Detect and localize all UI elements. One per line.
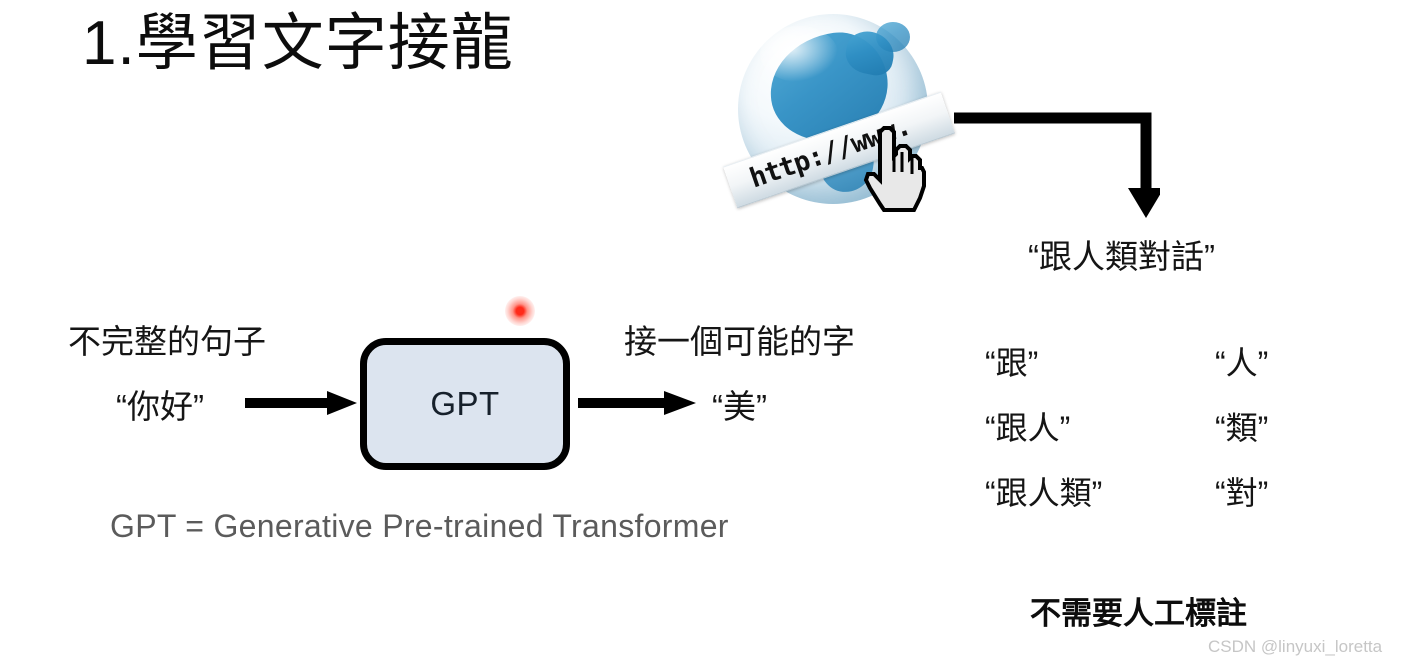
pair-prompt: “跟” — [985, 338, 1215, 384]
pair-prompt: “跟人類” — [985, 468, 1215, 514]
pair-answer: “人” — [1215, 338, 1268, 384]
input-token: “你好” — [116, 380, 204, 428]
laser-pointer-dot — [505, 296, 535, 326]
list-item: “跟人” “類” — [985, 403, 1355, 468]
pair-prompt: “跟人” — [985, 403, 1215, 449]
output-label: 接一個可能的字 — [624, 315, 855, 363]
dialogue-heading: “跟人類對話” — [1028, 230, 1215, 278]
globe-illustration: http://www. — [726, 8, 942, 218]
csdn-watermark: CSDN @linyuxi_loretta — [1208, 637, 1382, 657]
pair-answer: “對” — [1215, 468, 1268, 514]
elbow-arrow-down — [950, 106, 1160, 224]
no-human-annotation-note: 不需要人工標註 — [1030, 588, 1247, 633]
arrow-out-of-model — [578, 388, 696, 418]
page-title: 1.學習文字接龍 — [82, 8, 514, 79]
input-label: 不完整的句子 — [68, 315, 266, 363]
pair-answer: “類” — [1215, 403, 1268, 449]
pointing-hand-cursor-icon — [858, 126, 930, 212]
list-item: “跟” “人” — [985, 338, 1355, 403]
token-pair-list: “跟” “人” “跟人” “類” “跟人類” “對” — [985, 338, 1355, 533]
gpt-acronym-caption: GPT = Generative Pre-trained Transformer — [110, 508, 729, 545]
arrow-into-model — [245, 388, 357, 418]
gpt-model-box[interactable]: GPT — [360, 338, 570, 470]
gpt-model-label: GPT — [430, 385, 499, 423]
slide-canvas: 1.學習文字接龍 http://www. 不完整的句子 “你好” GPT 接 — [0, 0, 1426, 665]
output-token: “美” — [712, 380, 767, 428]
globe-continent-greenland — [876, 22, 910, 52]
list-item: “跟人類” “對” — [985, 468, 1355, 533]
